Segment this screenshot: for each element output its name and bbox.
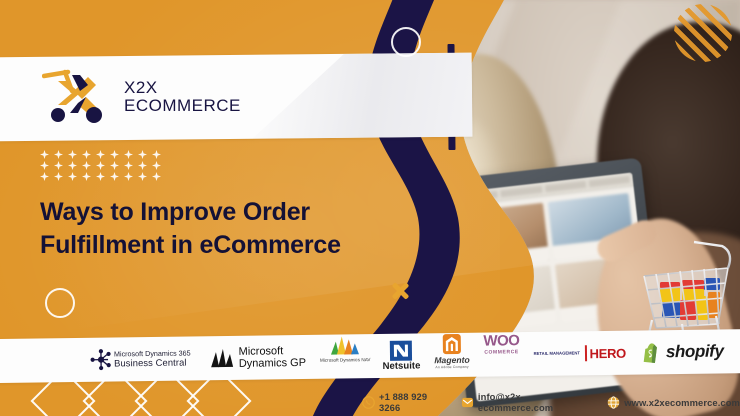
page-title: Ways to Improve Order Fulfillment in eCo… bbox=[40, 196, 370, 262]
contact-phone-value: +1 888 929 3266 bbox=[379, 391, 448, 413]
brand-name-line1: X2X bbox=[124, 79, 241, 96]
magento-icon bbox=[442, 333, 462, 355]
circle-outline-decoration bbox=[45, 288, 75, 318]
partner-logo-netsuite[interactable]: Netsuite bbox=[382, 333, 420, 377]
diamond-outline-decoration bbox=[40, 378, 242, 416]
partner-label: Magento bbox=[434, 355, 469, 365]
partner-label: RETAIL MANAGEMENT bbox=[534, 351, 580, 356]
globe-icon bbox=[607, 396, 620, 409]
netsuite-icon bbox=[389, 339, 413, 361]
partner-label-secondary: COMMERCE bbox=[484, 349, 519, 355]
partner-logo-retail-management-hero[interactable]: RETAIL MANAGEMENT HERO bbox=[533, 331, 626, 376]
partner-logo-shopify[interactable]: shopify bbox=[642, 329, 724, 374]
partner-label: Netsuite bbox=[382, 361, 420, 372]
partner-logo-magento[interactable]: Magento An Adobe Company bbox=[434, 333, 470, 377]
partner-logo-dynamics-gp[interactable]: Microsoft Dynamics GP bbox=[208, 335, 306, 380]
dynamics-365-business-central-icon bbox=[88, 346, 114, 372]
partner-label: WOO bbox=[483, 332, 519, 349]
contact-phone[interactable]: +1 888 929 3266 bbox=[362, 391, 448, 413]
envelope-icon bbox=[461, 396, 474, 409]
brand-name-line2: ECOMMERCE bbox=[124, 97, 241, 114]
marketing-banner: X2X ECOMMERCE Ways to Improve Order Fulf… bbox=[0, 0, 740, 416]
orange-x-mark-icon bbox=[390, 281, 410, 301]
partner-label: Microsoft Dynamics NAV bbox=[320, 357, 371, 363]
contact-website-value: www.x2xecommerce.com bbox=[624, 397, 740, 408]
partner-label-secondary: Dynamics GP bbox=[239, 357, 306, 370]
headline-line-1: Ways to Improve Order bbox=[40, 196, 370, 229]
shopping-cart-x2x-logo-icon bbox=[42, 67, 120, 125]
partner-label: Microsoft bbox=[239, 345, 306, 358]
hero-divider bbox=[585, 345, 587, 361]
partner-label-secondary: HERO bbox=[589, 345, 626, 360]
headline-line-2: Fulfillment in eCommerce bbox=[40, 229, 370, 262]
contact-footer: +1 888 929 3266 info@x2x-ecommerce.com w… bbox=[362, 391, 740, 413]
brand-logo[interactable]: X2X ECOMMERCE bbox=[42, 65, 222, 127]
contact-email-value: info@x2x-ecommerce.com bbox=[478, 391, 594, 413]
phone-icon bbox=[362, 396, 375, 409]
diagonal-striped-circle-icon bbox=[674, 4, 732, 62]
partner-label-secondary: An Adobe Company bbox=[435, 365, 468, 369]
shopify-icon bbox=[642, 341, 661, 363]
partner-logo-dynamics-nav[interactable]: Microsoft Dynamics NAV bbox=[320, 334, 371, 379]
partner-label: shopify bbox=[666, 341, 724, 362]
partner-logo-business-central[interactable]: Microsoft Dynamics 365 Business Central bbox=[88, 336, 191, 381]
partner-label-secondary: Business Central bbox=[114, 357, 191, 369]
contact-email[interactable]: info@x2x-ecommerce.com bbox=[461, 391, 594, 413]
microsoft-dynamics-nav-icon bbox=[330, 334, 360, 356]
partner-logo-woocommerce[interactable]: WOO COMMERCE bbox=[483, 332, 520, 376]
contact-website[interactable]: www.x2xecommerce.com bbox=[607, 396, 740, 409]
microsoft-dynamics-gp-icon bbox=[209, 346, 235, 370]
dot-grid-decoration bbox=[40, 150, 165, 181]
circle-outline-decoration bbox=[391, 27, 421, 57]
